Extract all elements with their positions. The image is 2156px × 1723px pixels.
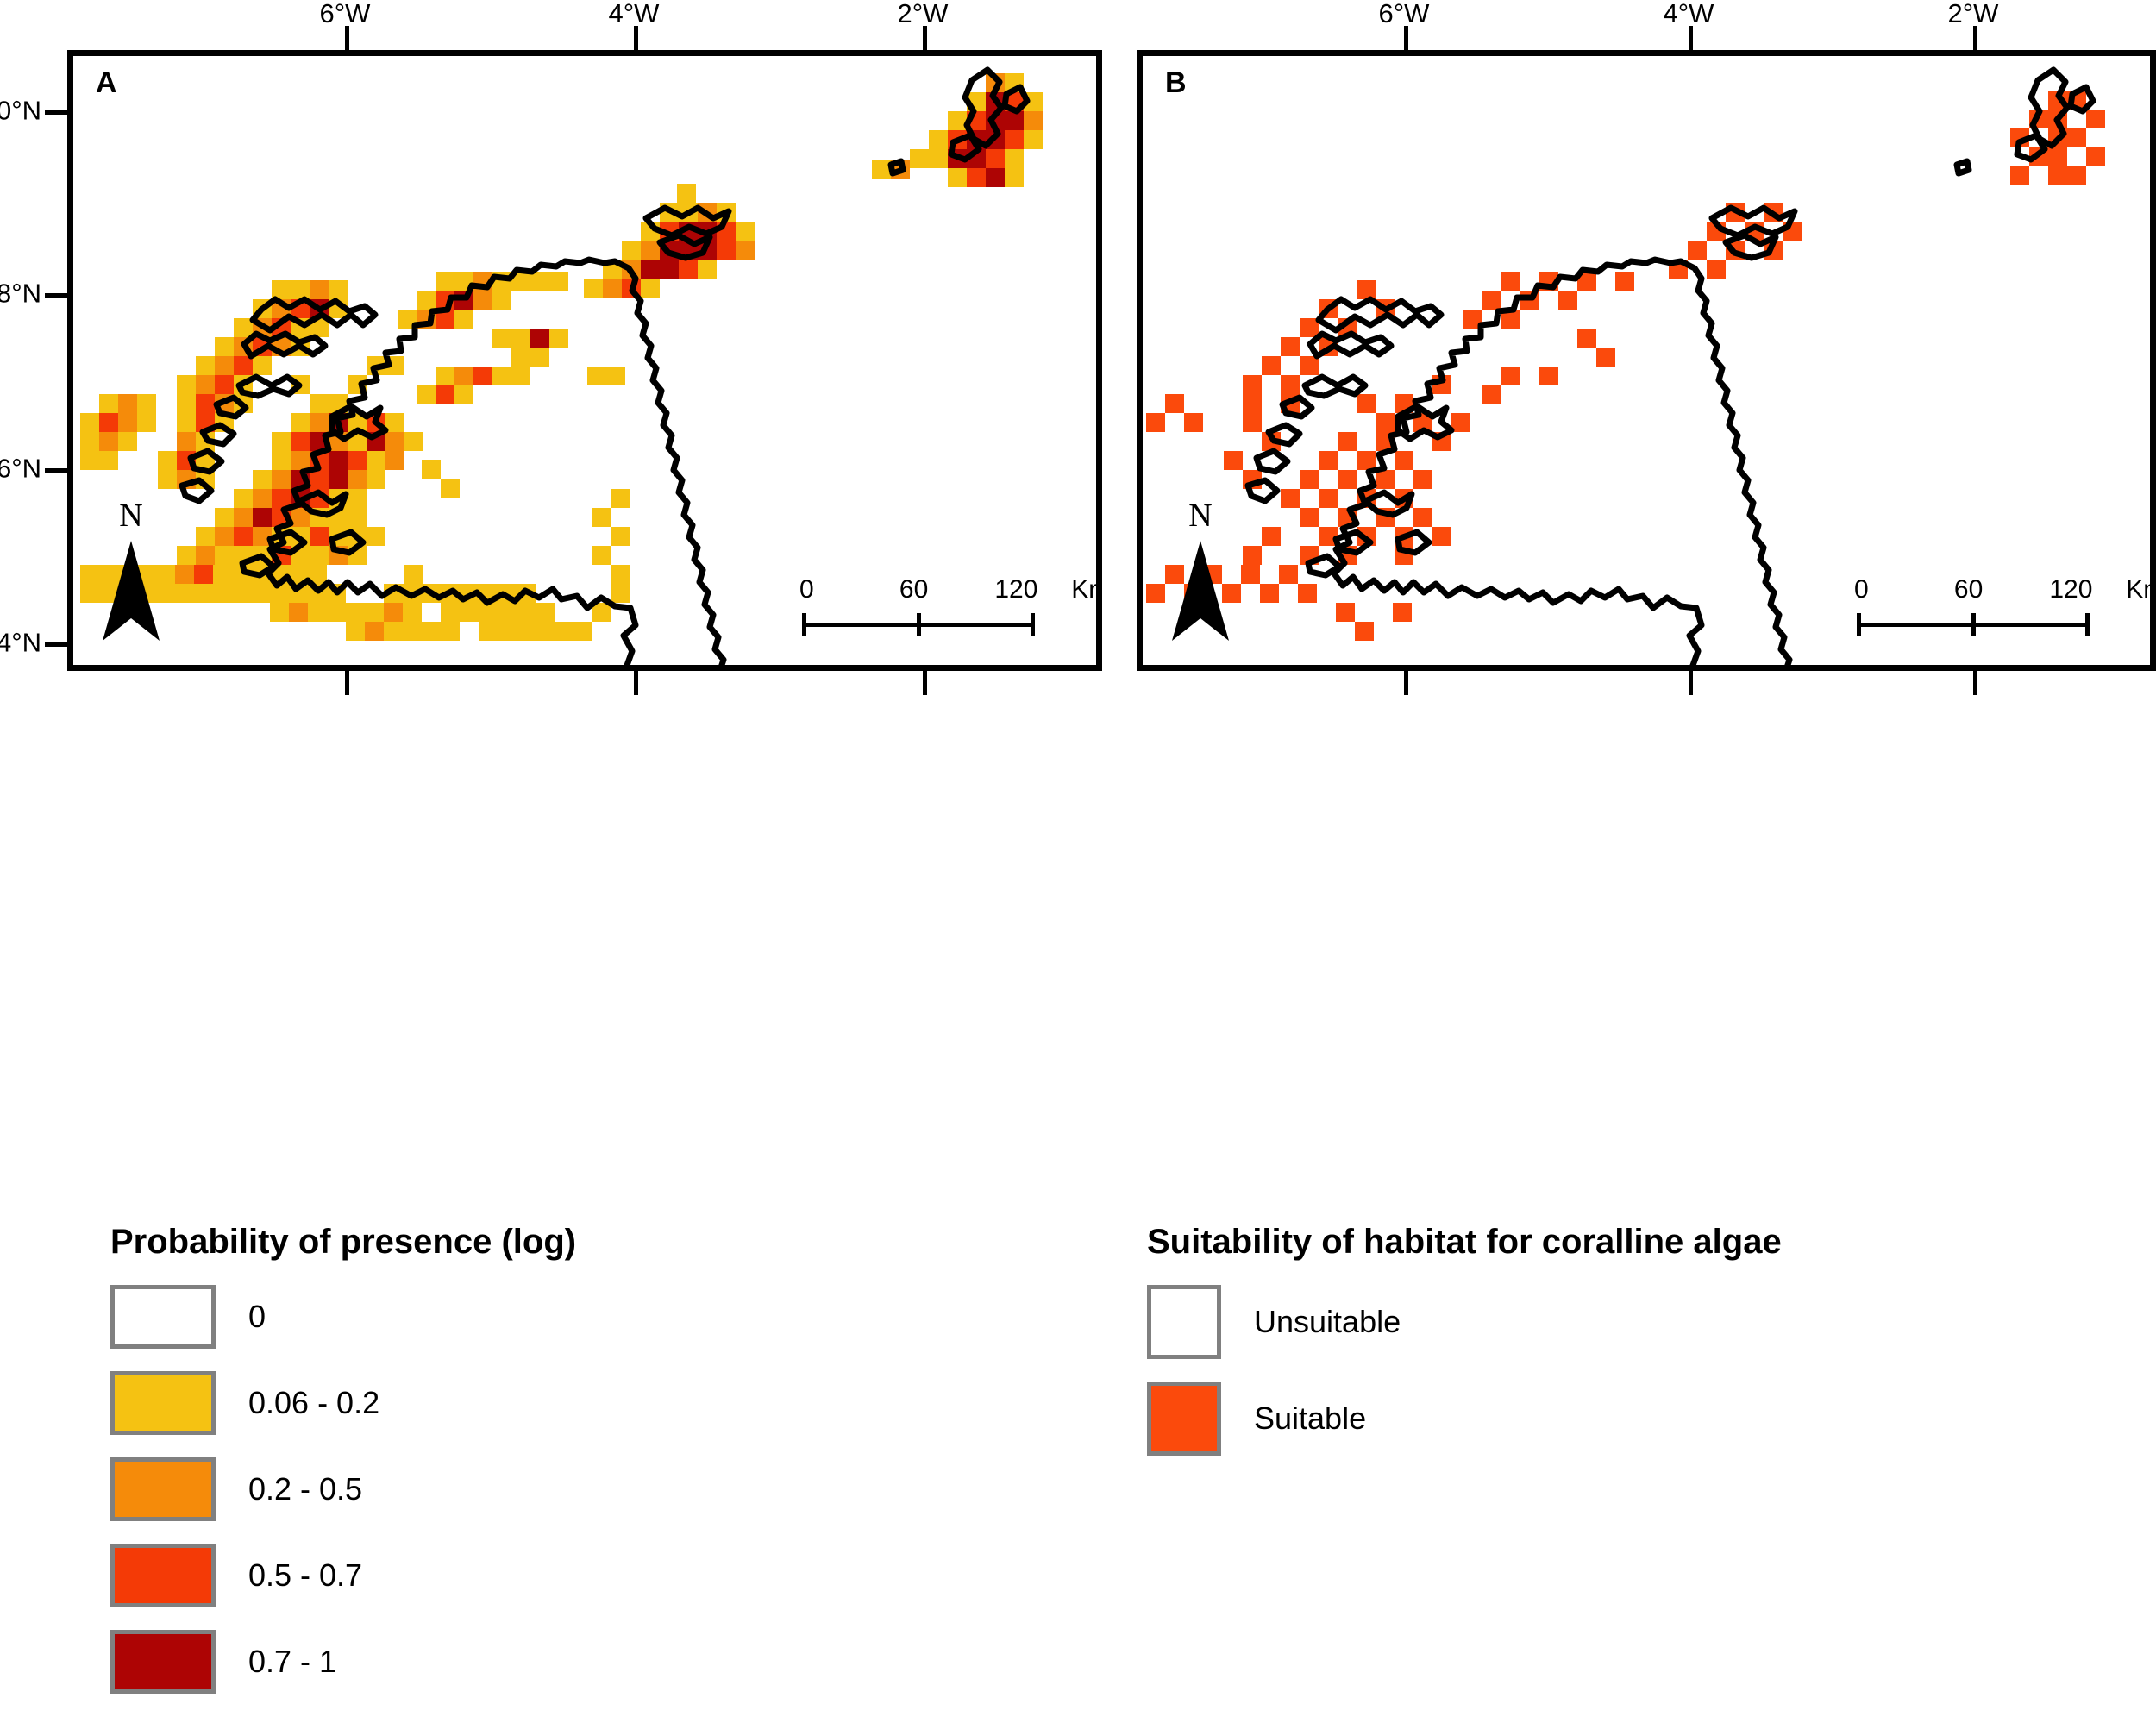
scale-bar-b: 0 60 120 Km bbox=[1857, 577, 2090, 636]
legend-b-title: Suitability of habitat for coralline alg… bbox=[1147, 1225, 1782, 1259]
lon-label-4w-a: 4°W bbox=[609, 0, 660, 27]
lon-tick-6w-b-bot bbox=[1404, 671, 1408, 695]
lon-tick-2w-b-bot bbox=[1973, 671, 1977, 695]
scale-bar-graphic-a bbox=[802, 613, 1035, 636]
legend-a-title: Probability of presence (log) bbox=[110, 1225, 576, 1259]
legend-a-label-0: 0 bbox=[248, 1301, 266, 1332]
legend-a-swatch-0 bbox=[110, 1285, 216, 1349]
lat-tick-58n-a bbox=[45, 293, 69, 298]
map-panel-a[interactable]: A bbox=[67, 50, 1102, 671]
raster-cells-a bbox=[80, 73, 1043, 641]
scale-tick-label-120-a: 120 bbox=[994, 577, 1037, 603]
north-arrow-b: N bbox=[1169, 499, 1232, 644]
legend-habitat-suitability: Suitability of habitat for coralline alg… bbox=[1147, 1225, 1782, 1478]
map-panel-b[interactable]: B bbox=[1137, 50, 2156, 671]
lon-tick-4w-b-top bbox=[1689, 26, 1693, 50]
legend-a-swatch-2 bbox=[110, 1457, 216, 1521]
legend-b-swatch-1 bbox=[1147, 1382, 1221, 1456]
legend-b-label-1: Suitable bbox=[1254, 1403, 1366, 1434]
legend-a-swatch-4 bbox=[110, 1630, 216, 1694]
lon-tick-4w-b-bot bbox=[1689, 671, 1693, 695]
lon-tick-2w-a-bot bbox=[923, 671, 927, 695]
lon-tick-2w-a-top bbox=[923, 26, 927, 50]
lat-label-60n: 60°N bbox=[0, 97, 41, 124]
north-arrow-letter-a: N bbox=[99, 499, 163, 532]
scale-tick-label-0-b: 0 bbox=[1854, 577, 1869, 603]
figure-root: A bbox=[0, 0, 2156, 1723]
map-b-graphic bbox=[1143, 56, 2150, 665]
legend-a-swatch-1 bbox=[110, 1371, 216, 1435]
legend-a-label-1: 0.06 - 0.2 bbox=[248, 1388, 379, 1419]
lat-tick-56n-a bbox=[45, 468, 69, 473]
lat-label-54n: 54°N bbox=[0, 630, 41, 656]
scale-unit-a: Km bbox=[1071, 577, 1102, 603]
legend-a-row-0[interactable]: 0 bbox=[110, 1285, 576, 1349]
map-a-graphic bbox=[73, 56, 1096, 665]
lat-tick-54n-a bbox=[45, 642, 69, 647]
lon-label-2w-a: 2°W bbox=[898, 0, 949, 27]
legend-b-row-1[interactable]: Suitable bbox=[1147, 1382, 1782, 1456]
north-arrow-glyph-a bbox=[99, 539, 163, 642]
scale-bar-labels-b: 0 60 120 Km bbox=[1857, 577, 2090, 608]
lon-label-4w-b: 4°W bbox=[1664, 0, 1714, 27]
north-arrow-letter-b: N bbox=[1169, 499, 1232, 532]
legend-b-row-0[interactable]: Unsuitable bbox=[1147, 1285, 1782, 1359]
scale-unit-b: Km bbox=[2126, 577, 2156, 603]
north-arrow-glyph-b bbox=[1169, 539, 1232, 642]
scale-tick-label-60-a: 60 bbox=[899, 577, 928, 603]
lat-label-56n: 56°N bbox=[0, 455, 41, 482]
legend-a-row-3[interactable]: 0.5 - 0.7 bbox=[110, 1544, 576, 1607]
lat-tick-60n-a bbox=[45, 110, 69, 115]
lat-label-58n: 58°N bbox=[0, 280, 41, 307]
scale-tick-label-60-b: 60 bbox=[1954, 577, 1983, 603]
lon-tick-4w-a-top bbox=[634, 26, 638, 50]
lon-tick-2w-b-top bbox=[1973, 26, 1977, 50]
lon-label-6w-a: 6°W bbox=[320, 0, 371, 27]
scale-bar-a: 0 60 120 Km bbox=[802, 577, 1035, 636]
legend-b-swatch-0 bbox=[1147, 1285, 1221, 1359]
legend-a-row-1[interactable]: 0.06 - 0.2 bbox=[110, 1371, 576, 1435]
legend-a-row-2[interactable]: 0.2 - 0.5 bbox=[110, 1457, 576, 1521]
lon-tick-6w-a-top bbox=[345, 26, 349, 50]
legend-a-label-3: 0.5 - 0.7 bbox=[248, 1560, 362, 1591]
legend-a-label-2: 0.2 - 0.5 bbox=[248, 1474, 362, 1505]
lon-label-6w-b: 6°W bbox=[1379, 0, 1430, 27]
legend-a-row-4[interactable]: 0.7 - 1 bbox=[110, 1630, 576, 1694]
scale-bar-graphic-b bbox=[1857, 613, 2090, 636]
legend-a-swatch-3 bbox=[110, 1544, 216, 1607]
legend-b-label-0: Unsuitable bbox=[1254, 1306, 1401, 1338]
lon-tick-6w-a-bot bbox=[345, 671, 349, 695]
scale-tick-label-0-a: 0 bbox=[799, 577, 814, 603]
lon-tick-4w-a-bot bbox=[634, 671, 638, 695]
scale-bar-labels-a: 0 60 120 Km bbox=[802, 577, 1035, 608]
scale-tick-label-120-b: 120 bbox=[2049, 577, 2092, 603]
legend-probability-of-presence: Probability of presence (log) 0 0.06 - 0… bbox=[110, 1225, 576, 1716]
north-arrow-a: N bbox=[99, 499, 163, 644]
lon-tick-6w-b-top bbox=[1404, 26, 1408, 50]
lon-label-2w-b: 2°W bbox=[1948, 0, 1999, 27]
legend-a-label-4: 0.7 - 1 bbox=[248, 1646, 336, 1677]
